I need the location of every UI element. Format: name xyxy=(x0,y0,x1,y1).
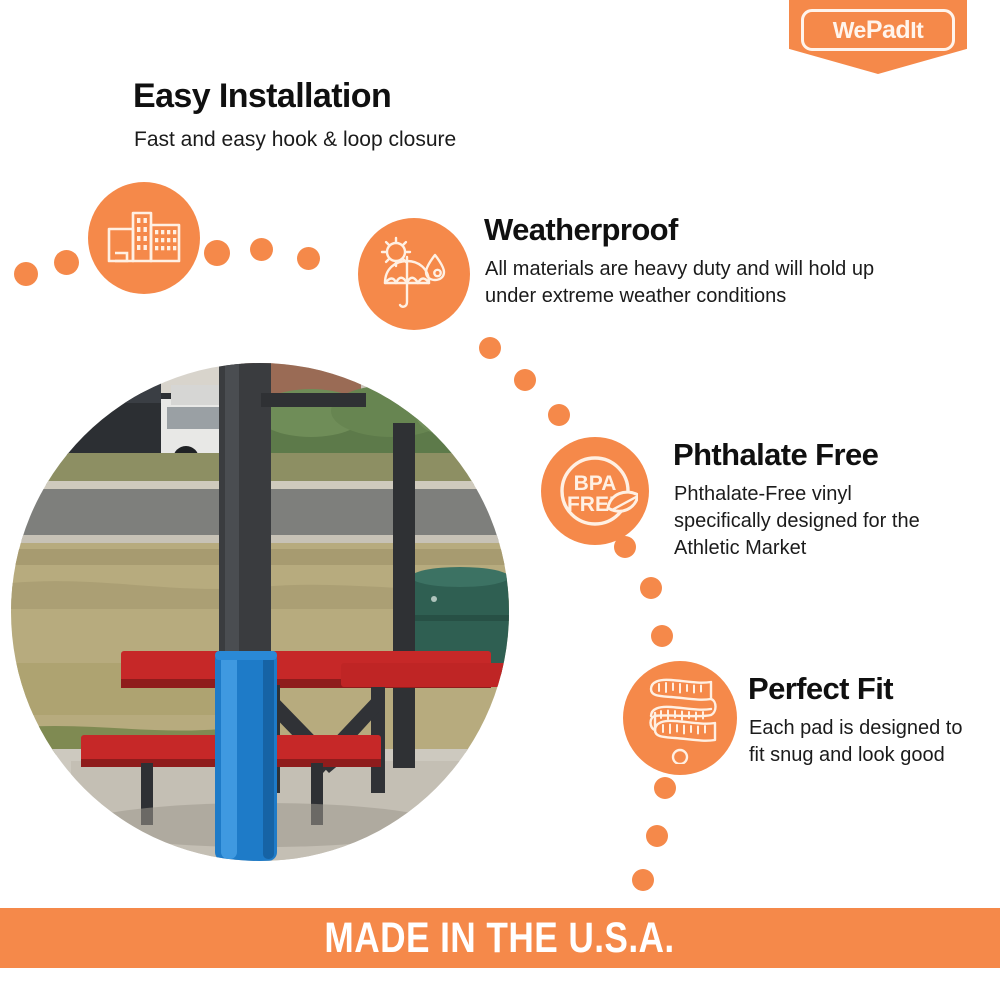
infographic-page: WePadIt Easy Installation Fast and easy … xyxy=(0,0,1000,987)
trail-dot xyxy=(250,238,273,261)
trail-dot xyxy=(14,262,38,286)
logo-wordmark: WePadIt xyxy=(833,18,924,43)
feature-description-weatherproof: All materials are heavy duty and will ho… xyxy=(485,256,915,310)
feature-title-phthalate-free: Phthalate Free xyxy=(673,439,878,472)
trail-dot xyxy=(651,625,673,647)
bpa-label-line-1: BPA xyxy=(574,472,617,495)
feature-icon-phthalate-free: BPA FREE xyxy=(541,437,649,545)
trail-dot xyxy=(204,240,230,266)
brand-logo-badge: WePadIt xyxy=(789,0,967,74)
made-in-usa-banner: MADE IN THE U.S.A. xyxy=(0,908,1000,968)
trail-dot xyxy=(514,369,536,391)
trail-dot xyxy=(632,869,654,891)
feature-title-perfect-fit: Perfect Fit xyxy=(748,673,893,706)
feature-icon-easy-installation xyxy=(88,182,200,294)
trail-dot xyxy=(297,247,320,270)
trail-dot xyxy=(640,577,662,599)
product-photo xyxy=(11,363,509,861)
logo-border-frame: WePadIt xyxy=(801,9,955,51)
trail-dot xyxy=(654,777,676,799)
trail-dot xyxy=(646,825,668,847)
feature-title-easy-installation: Easy Installation xyxy=(133,79,391,115)
logo-word-it: It xyxy=(910,17,923,43)
measuring-tape-icon xyxy=(637,672,723,764)
product-photo-scene xyxy=(11,363,509,861)
feature-description-phthalate-free: Phthalate-Free vinyl specifically design… xyxy=(674,481,944,561)
made-in-usa-text: MADE IN THE U.S.A. xyxy=(325,914,675,963)
feature-description-perfect-fit: Each pad is designed to fit snug and loo… xyxy=(749,715,974,769)
trail-dot xyxy=(548,404,570,426)
sun-umbrella-raindrop-icon xyxy=(374,235,454,313)
building-factory-icon xyxy=(106,205,182,271)
logo-word-pad: Pad xyxy=(866,16,910,44)
feature-description-easy-installation: Fast and easy hook & loop closure xyxy=(134,126,456,154)
logo-word-we: We xyxy=(833,17,866,43)
trail-dot xyxy=(54,250,79,275)
feature-title-weatherproof: Weatherproof xyxy=(484,214,678,247)
feature-icon-perfect-fit xyxy=(623,661,737,775)
bpa-free-leaf-icon: BPA FREE xyxy=(552,448,638,534)
trail-dot xyxy=(479,337,501,359)
feature-icon-weatherproof xyxy=(358,218,470,330)
